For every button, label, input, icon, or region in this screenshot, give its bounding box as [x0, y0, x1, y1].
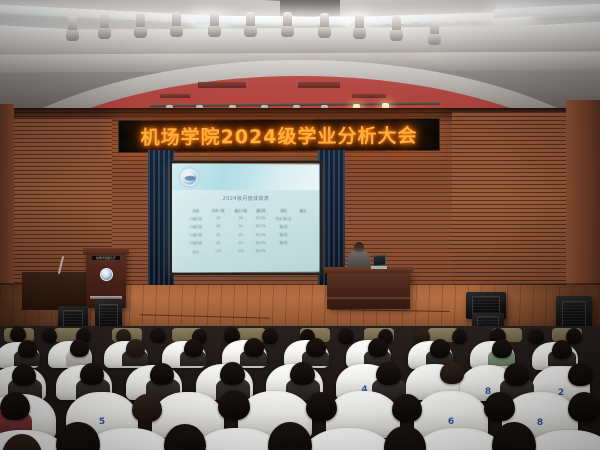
- audience-head: [70, 339, 89, 357]
- slide-table-cell: 105: [229, 247, 251, 255]
- audience-head: [306, 338, 326, 357]
- ceiling-spotlight-icon: [100, 14, 109, 31]
- slide-table-row: 24级2班282485.7%第2名: [185, 222, 309, 230]
- slide-table-cell: 84.0%: [252, 247, 270, 255]
- slide-table-row: 合计12510584.0%: [185, 247, 309, 256]
- ceiling-vent: [352, 94, 386, 98]
- slide-table-row: 24级1班322887.5%专业 第1名: [185, 214, 309, 222]
- acoustic-panel-right: [452, 112, 572, 307]
- ceiling-spotlight-icon: [320, 13, 329, 30]
- desk-trim: [327, 297, 410, 299]
- slide-table-cell: 28: [229, 214, 251, 222]
- slide-table-cell: 82.9%: [252, 231, 270, 239]
- audience-head: [0, 392, 30, 420]
- slide-table-cell: 125: [207, 247, 230, 255]
- slide-table-body: 24级1班322887.5%专业 第1名24级2班282485.7%第2名24级…: [185, 214, 309, 255]
- slide-table-header-cell: 补考人数: [207, 206, 230, 214]
- audience-head: [484, 392, 515, 421]
- slide-table-cell: [297, 222, 308, 230]
- ceiling-spotlight-icon: [172, 12, 181, 29]
- audience-head: [430, 339, 450, 358]
- university-crest-icon: [181, 169, 198, 186]
- audience-head: [452, 329, 467, 344]
- ceiling-spotlight-icon: [136, 13, 145, 30]
- audience-seating-area: 4 8 2 5 6: [0, 326, 600, 450]
- slide-table-cell: 24级2班: [185, 222, 207, 230]
- slide-table-cell: 第2名: [270, 222, 298, 230]
- slide-table-cell: 24级3班: [185, 231, 207, 239]
- slide-table-cell: 24: [229, 239, 251, 247]
- slide-table-cell: [297, 247, 308, 255]
- lectern-base-strip: [90, 296, 122, 299]
- slide-table-cell: [297, 214, 308, 222]
- ceiling-spotlight-icon: [392, 16, 401, 33]
- audience-head: [262, 328, 278, 344]
- slide-table-header-cell: 排名: [270, 206, 298, 214]
- lectern-nameplate-text: 机场学院报告厅: [96, 256, 116, 260]
- slide-table-cell: 第3名: [270, 230, 298, 238]
- audience-head: [42, 328, 57, 343]
- audience-head: [184, 339, 203, 357]
- audience-head: [306, 392, 337, 421]
- laptop-icon: [371, 255, 387, 269]
- slide-title: 2024级月度成绩表: [172, 195, 320, 202]
- slide-table: 班级补考人数通过人数通过率排名备注 24级1班322887.5%专业 第1名24…: [185, 206, 309, 255]
- audience-head: [126, 339, 145, 357]
- audience-head: [504, 363, 529, 386]
- audience-head: [80, 363, 104, 385]
- lectern-top: [83, 248, 129, 255]
- audience-head: [568, 363, 593, 386]
- slide-table-cell: 第4名: [270, 239, 298, 247]
- audience-head: [150, 363, 174, 385]
- led-banner: 机场学院2024级学业分析大会: [118, 118, 440, 153]
- slide-table-cell: 30: [207, 239, 230, 247]
- slide-table-cell: 87.5%: [252, 214, 270, 222]
- ceiling-spotlight-icon: [283, 12, 292, 29]
- university-emblem-icon: [100, 268, 113, 281]
- slide-table-cell: 32: [207, 214, 230, 222]
- slide-table-cell: 35: [207, 231, 230, 239]
- slide-table-cell: 24: [229, 222, 251, 230]
- ceiling-spotlight-icon: [355, 14, 364, 31]
- slide-table-cell: 29: [229, 231, 251, 239]
- stage-side-cabinet: [22, 272, 86, 310]
- audience-head: [376, 362, 401, 385]
- auditorium-scene: 机场学院2024级学业分析大会 2024级月度成绩表 班级补考人数通过人数通过率…: [0, 0, 600, 450]
- audience-head: [218, 390, 250, 420]
- slide-table-row: 24级3班352982.9%第3名: [185, 230, 309, 238]
- ceiling-spotlight-icon: [430, 20, 439, 37]
- desk-top: [324, 267, 413, 273]
- audience-head: [12, 364, 36, 386]
- audience-head: [220, 362, 245, 385]
- slide-table-cell: 24级1班: [185, 214, 207, 222]
- audience-head: [552, 340, 572, 359]
- presenter-head: [354, 242, 364, 253]
- audience-head: [150, 328, 166, 343]
- slide-table-cell: 85.7%: [252, 222, 270, 230]
- slide-table-header-cell: 通过率: [252, 206, 270, 214]
- projection-screen: 2024级月度成绩表 班级补考人数通过人数通过率排名备注 24级1班322887…: [172, 164, 320, 273]
- seat-number: 6: [414, 417, 488, 427]
- led-banner-text: 机场学院2024级学业分析大会: [140, 121, 417, 150]
- ceiling: [0, 0, 600, 122]
- audience-head: [290, 362, 315, 385]
- slide-table-header-cell: 备注: [297, 206, 308, 214]
- slide-table-cell: [297, 239, 308, 247]
- ceiling-vent: [298, 82, 340, 88]
- audience-head: [132, 394, 162, 422]
- audience-head: [440, 362, 464, 384]
- audience-head: [392, 394, 422, 422]
- ceiling-spotlight-icon: [246, 12, 255, 29]
- lectern-nameplate: 机场学院报告厅: [91, 255, 121, 261]
- slide-table-cell: 24级4班: [185, 239, 207, 247]
- light-cove: [195, 15, 365, 25]
- slide-table-cell: 80.0%: [252, 239, 270, 247]
- slide-table-cell: 专业 第1名: [270, 214, 298, 222]
- audience-head: [528, 329, 544, 344]
- audience-head: [18, 340, 37, 358]
- slide-table-header-row: 班级补考人数通过人数通过率排名备注: [185, 206, 309, 214]
- slide-table-cell: [297, 230, 308, 238]
- slide-table-cell: 28: [207, 222, 230, 230]
- slide-table-header-cell: 通过人数: [229, 206, 251, 214]
- slide-table-header-cell: 班级: [185, 206, 207, 214]
- audience-head: [492, 339, 512, 358]
- slide-table-cell: 合计: [185, 247, 207, 255]
- stage-curtain-left: [148, 150, 174, 300]
- audience-head: [568, 392, 600, 422]
- presenter-desk: [327, 271, 410, 309]
- ceiling-vent: [160, 94, 190, 98]
- ceiling-spotlight-icon: [210, 12, 219, 29]
- slide-table-cell: [270, 247, 298, 255]
- audience-head: [338, 328, 354, 344]
- audience-head: [368, 338, 388, 357]
- audience-head: [244, 338, 264, 357]
- ceiling-spotlight-icon: [68, 16, 77, 33]
- ceiling-vent: [198, 82, 246, 88]
